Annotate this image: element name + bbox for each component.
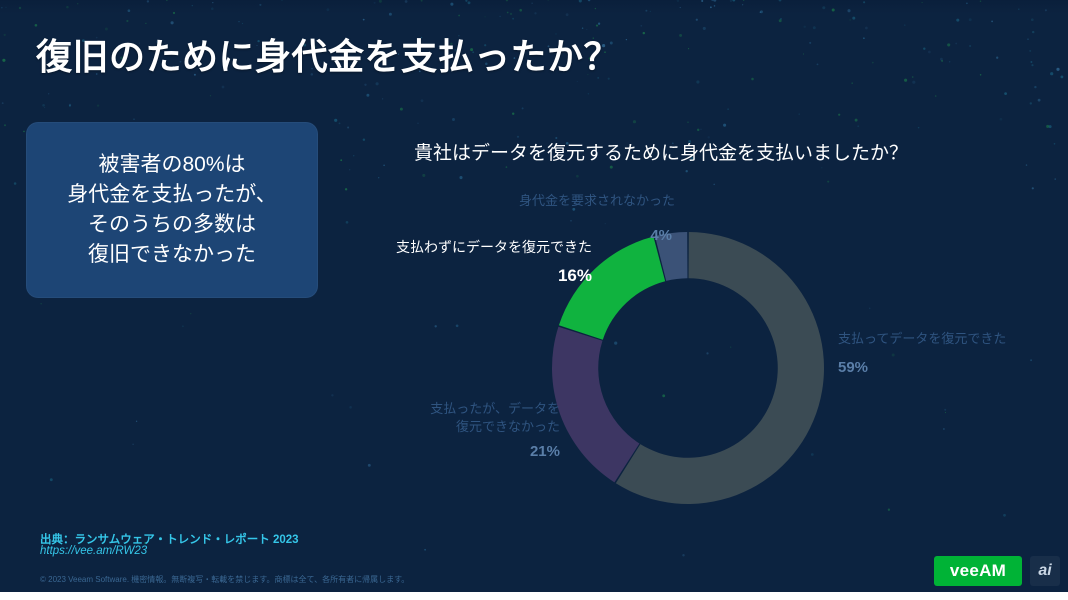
slide-root: 復旧のために身代金を支払ったか？ 被害者の80%は 身代金を支払ったが、 そのう… (0, 0, 1068, 600)
label-paid-not-recovered-pct: 21% (384, 442, 560, 462)
label-paid-not-recovered-text: 支払ったが、データを 復元できなかった (384, 400, 560, 435)
star-dots-decoration (0, 0, 1068, 600)
label-paid-and-recovered: 支払ってデータを復元できた 59% (838, 330, 1038, 378)
label-recovered-without-paying-pct: 16% (386, 265, 592, 288)
label-no-demand-text: 身代金を要求されなかった (512, 192, 682, 210)
bottom-white-strip (0, 592, 1068, 600)
label-recovered-without-paying-text: 支払わずにデータを復元できた (386, 238, 592, 257)
page-title: 復旧のために身代金を支払ったか？ (36, 28, 620, 80)
label-paid-not-recovered: 支払ったが、データを 復元できなかった 21% (384, 400, 560, 462)
cnet-logo: ai (1030, 556, 1060, 586)
label-recovered-without-paying: 支払わずにデータを復元できた 16% (386, 238, 592, 288)
donut-slice (552, 327, 639, 483)
callout-text: 被害者の80%は 身代金を支払ったが、 そのうちの多数は 復旧できなかった (67, 150, 277, 269)
label-paid-and-recovered-text: 支払ってデータを復元できた (838, 330, 1038, 348)
veeam-logo: veeAM (934, 556, 1022, 586)
callout-box: 被害者の80%は 身代金を支払ったが、 そのうちの多数は 復旧できなかった (26, 122, 318, 298)
copyright-notice: © 2023 Veeam Software. 機密情報。無断複写・転載を禁じます… (40, 574, 409, 585)
label-paid-and-recovered-pct: 59% (838, 358, 1038, 378)
cnet-logo-text: ai (1038, 562, 1051, 580)
chart-heading: 貴社はデータを復元するために身代金を支払いましたか？ (414, 138, 908, 165)
source-url[interactable]: https://vee.am/RW23 (40, 545, 147, 557)
top-band-decoration (0, 0, 1068, 14)
veeam-logo-text: veeAM (950, 561, 1006, 581)
